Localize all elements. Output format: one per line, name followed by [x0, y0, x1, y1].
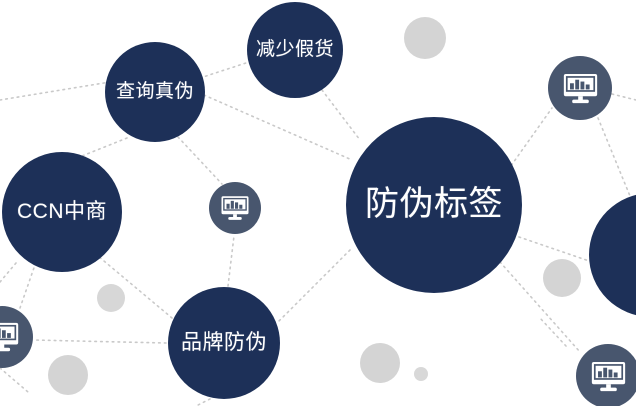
link-pinpai-to-icon-center [228, 236, 234, 286]
link-icon-topright-to-right [598, 118, 630, 196]
node-fangwei-biaoqian[interactable]: 防伪标签 [346, 117, 522, 293]
decor-circle-left-mid [97, 284, 125, 312]
decor-circle-bottom-left [48, 355, 88, 395]
decor-circle-small-bottom [414, 367, 428, 381]
link-pinpai-to-left-icon [33, 340, 166, 343]
monitor-bar-chart-icon [562, 70, 599, 107]
link-jianshao-to-main [322, 90, 360, 140]
node-ccn-zhongshang[interactable]: CCN中商 [2, 152, 122, 272]
node-fangwei-biaoqian-label: 防伪标签 [365, 186, 503, 223]
node-ccn-zhongshang-label: CCN中商 [17, 200, 107, 223]
monitor-bar-chart-icon [590, 358, 627, 395]
node-chaxun-zhenwei[interactable]: 查询真伪 [105, 42, 205, 142]
infographic-canvas: 防伪标签查询真伪减少假货CCN中商品牌防伪 [0, 0, 636, 406]
node-pinpai-fangwei-label: 品牌防伪 [181, 331, 267, 354]
link-chaxun-to-icon-center [178, 137, 222, 184]
link-main-to-pinpai [278, 250, 350, 322]
decor-circle-top [404, 17, 446, 59]
link-chaxun-to-main [204, 95, 352, 160]
node-jianshao-jiahuo-label: 减少假货 [256, 40, 334, 61]
monitor-bar-chart-icon [0, 319, 20, 355]
link-chaxun-to-ccn [82, 138, 127, 156]
link-main-to-right-edge [519, 237, 592, 262]
dashboard-monitor-icon-bottom-right[interactable] [576, 344, 636, 406]
monitor-bar-chart-icon [220, 193, 250, 223]
link-bottom-left-tail [0, 368, 28, 392]
dashboard-monitor-icon-center[interactable] [209, 182, 261, 234]
node-pinpai-fangwei[interactable]: 品牌防伪 [168, 287, 280, 399]
decor-circle-right-middle [543, 259, 581, 297]
link-ccn-to-left-edge [0, 263, 16, 282]
link-left-icon-up [20, 262, 36, 308]
node-chaxun-zhenwei-label: 查询真伪 [116, 82, 194, 103]
dashboard-monitor-icon-top-right[interactable] [548, 56, 612, 120]
decor-circle-bottom-mid [360, 343, 400, 383]
link-ccn-to-chaxun [0, 82, 110, 100]
link-icon-topright-to-edge [612, 94, 636, 100]
node-jianshao-jiahuo[interactable]: 减少假货 [247, 2, 343, 98]
link-pinpai-down [196, 399, 210, 406]
link-chaxun-to-jianshao [200, 62, 249, 78]
link-main-to-icon-topright [508, 108, 552, 170]
